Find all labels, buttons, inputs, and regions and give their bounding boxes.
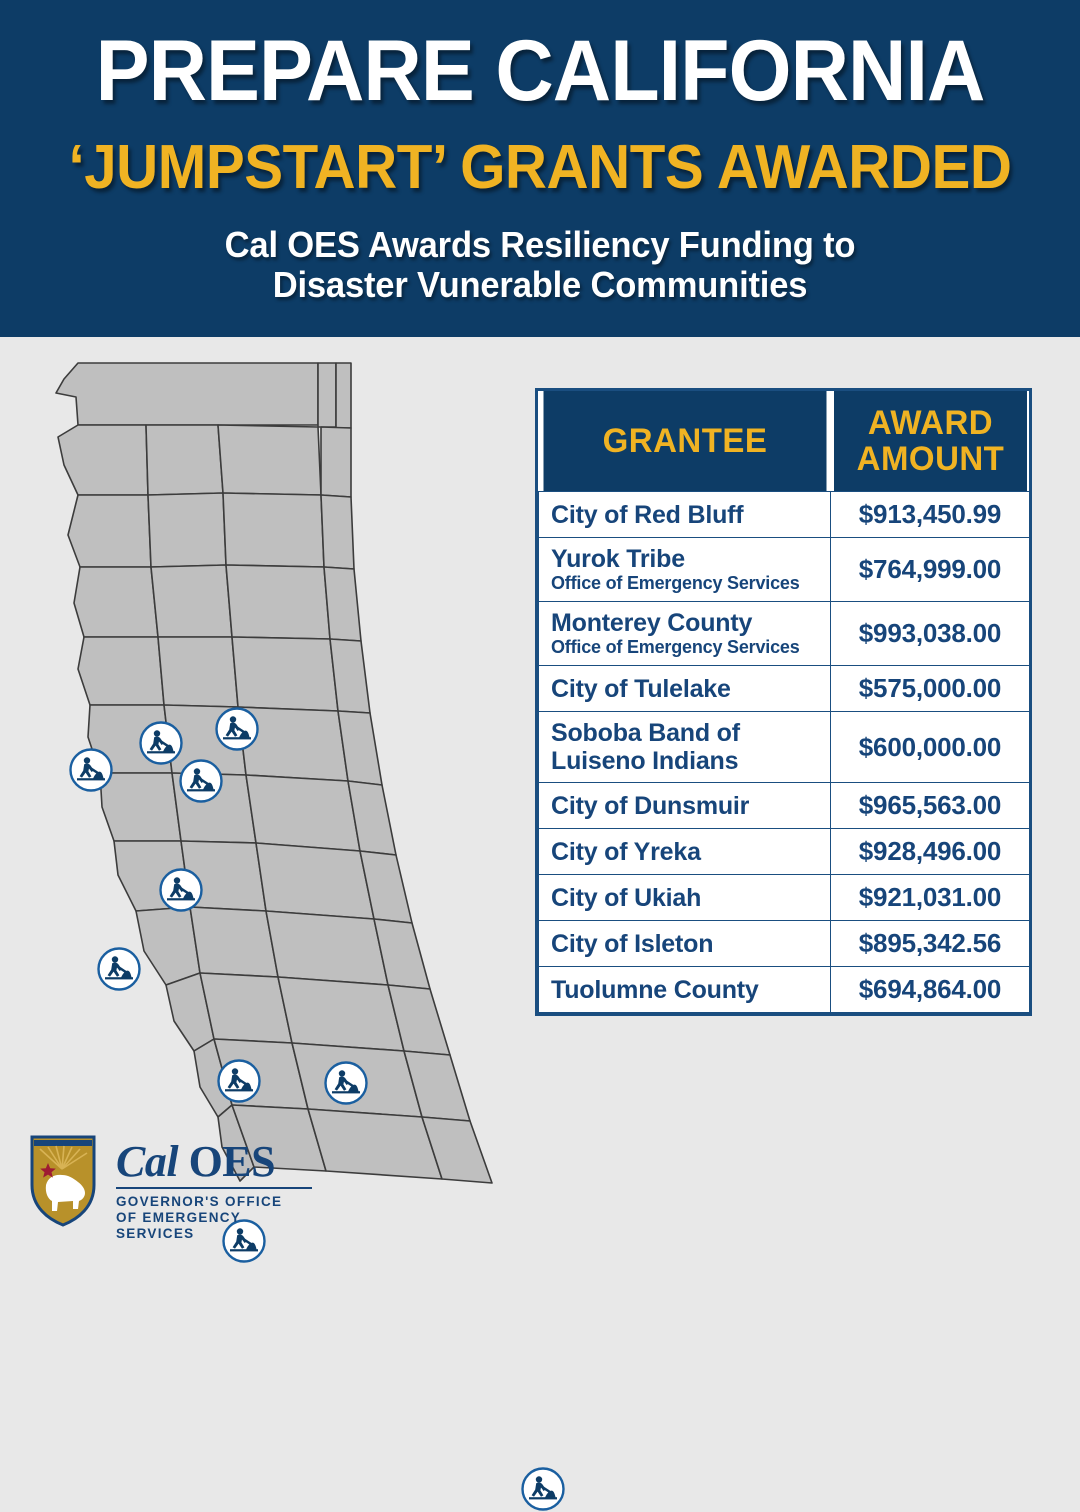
pin-redding[interactable]: [158, 867, 204, 913]
road-work-icon: [158, 867, 204, 913]
table-row: City of Tulelake $575,000.00: [539, 666, 1030, 712]
logo-name-oes: OES: [189, 1137, 276, 1186]
column-header-award-amount: AWARD AMOUNT: [833, 391, 1026, 492]
grantee-name: City of Tulelake: [551, 675, 731, 703]
table-row: Yurok Tribe Office of Emergency Services…: [539, 538, 1030, 602]
table-row: Tuolumne County $694,864.00: [539, 967, 1030, 1013]
logo-divider: [116, 1187, 312, 1189]
cell-award-amount: $993,038.00: [831, 602, 1030, 666]
table-body: City of Red Bluff $913,450.99 Yurok Trib…: [539, 492, 1030, 1013]
grantee-name: Tuolumne County: [551, 976, 759, 1004]
pin-isleton[interactable]: [216, 1058, 262, 1104]
cell-award-amount: $965,563.00: [831, 783, 1030, 829]
cell-award-amount: $895,342.56: [831, 921, 1030, 967]
cell-grantee: City of Yreka: [539, 829, 831, 875]
grantee-name: City of Isleton: [551, 930, 713, 958]
cell-award-amount: $575,000.00: [831, 666, 1030, 712]
cell-grantee: City of Ukiah: [539, 875, 831, 921]
column-header-grantee: GRANTEE: [543, 391, 826, 492]
cell-award-amount: $913,450.99: [831, 492, 1030, 538]
cell-award-amount: $600,000.00: [831, 712, 1030, 783]
cell-grantee: City of Red Bluff: [539, 492, 831, 538]
cell-award-amount: $694,864.00: [831, 967, 1030, 1013]
tagline-line-1: Cal OES Awards Resiliency Funding to: [22, 225, 1059, 265]
tagline-line-2: Disaster Vunerable Communities: [22, 265, 1059, 305]
cell-grantee: Tuolumne County: [539, 967, 831, 1013]
cell-grantee: City of Dunsmuir: [539, 783, 831, 829]
pin-red-bluff[interactable]: [178, 758, 224, 804]
county-shapes: [56, 363, 492, 1183]
road-work-icon: [216, 1058, 262, 1104]
logo-name: Cal OES: [116, 1139, 316, 1185]
cal-oes-logo: Cal OES GOVERNOR'S OFFICE OF EMERGENCY S…: [28, 1133, 318, 1233]
shield-icon: [28, 1133, 98, 1228]
grantee-subtitle: Office of Emergency Services: [551, 637, 818, 658]
logo-subtitle-line-2: OF EMERGENCY SERVICES: [116, 1210, 316, 1242]
cell-award-amount: $764,999.00: [831, 538, 1030, 602]
pin-yreka[interactable]: [214, 706, 260, 752]
page-title: PREPARE CALIFORNIA: [32, 28, 1047, 114]
road-work-icon: [96, 946, 142, 992]
grantee-name: Monterey County: [551, 609, 752, 637]
page-subtitle: ‘JUMPSTART’ GRANTS AWARDED: [32, 137, 1047, 199]
grants-table: GRANTEE AWARD AMOUNT City of Red Bluff $…: [535, 388, 1032, 1016]
cell-grantee: City of Tulelake: [539, 666, 831, 712]
road-work-icon: [214, 706, 260, 752]
pin-soboba[interactable]: [520, 1466, 566, 1512]
logo-wordmark: Cal OES GOVERNOR'S OFFICE OF EMERGENCY S…: [116, 1139, 316, 1242]
road-work-icon: [68, 747, 114, 793]
grantee-name: City of Red Bluff: [551, 501, 743, 529]
table-row: City of Red Bluff $913,450.99: [539, 492, 1030, 538]
pin-dunsmuir[interactable]: [68, 747, 114, 793]
grantee-name: City of Yreka: [551, 838, 701, 866]
cell-grantee: City of Isleton: [539, 921, 831, 967]
table-header-row: GRANTEE AWARD AMOUNT: [539, 391, 1030, 492]
header-banner: PREPARE CALIFORNIA ‘JUMPSTART’ GRANTS AW…: [0, 0, 1080, 337]
pin-tuolumne[interactable]: [323, 1060, 369, 1106]
grantee-name: City of Dunsmuir: [551, 792, 749, 820]
grantee-name-line2: Luiseno Indians: [551, 747, 818, 775]
table-row: Monterey County Office of Emergency Serv…: [539, 602, 1030, 666]
shield-top-band: [34, 1140, 92, 1146]
cell-grantee: Soboba Band of Luiseno Indians: [539, 712, 831, 783]
grants-table-element: GRANTEE AWARD AMOUNT City of Red Bluff $…: [538, 391, 1030, 1013]
cell-award-amount: $921,031.00: [831, 875, 1030, 921]
pin-ukiah[interactable]: [96, 946, 142, 992]
cell-award-amount: $928,496.00: [831, 829, 1030, 875]
table-row: City of Yreka $928,496.00: [539, 829, 1030, 875]
tagline: Cal OES Awards Resiliency Funding to Dis…: [22, 225, 1059, 305]
logo-subtitle-line-1: GOVERNOR'S OFFICE: [116, 1194, 316, 1210]
table-row: City of Isleton $895,342.56: [539, 921, 1030, 967]
road-work-icon: [520, 1466, 566, 1512]
table-row: Soboba Band of Luiseno Indians $600,000.…: [539, 712, 1030, 783]
grantee-name: Soboba Band of: [551, 719, 740, 747]
logo-name-cal: Cal: [116, 1137, 178, 1186]
grantee-subtitle: Office of Emergency Services: [551, 573, 818, 594]
table-row: City of Ukiah $921,031.00: [539, 875, 1030, 921]
cell-grantee: Monterey County Office of Emergency Serv…: [539, 602, 831, 666]
road-work-icon: [178, 758, 224, 804]
grantee-name: Yurok Tribe: [551, 545, 685, 573]
road-work-icon: [323, 1060, 369, 1106]
grantee-name: City of Ukiah: [551, 884, 701, 912]
table-row: City of Dunsmuir $965,563.00: [539, 783, 1030, 829]
table-header: GRANTEE AWARD AMOUNT: [539, 391, 1030, 492]
cell-grantee: Yurok Tribe Office of Emergency Services: [539, 538, 831, 602]
